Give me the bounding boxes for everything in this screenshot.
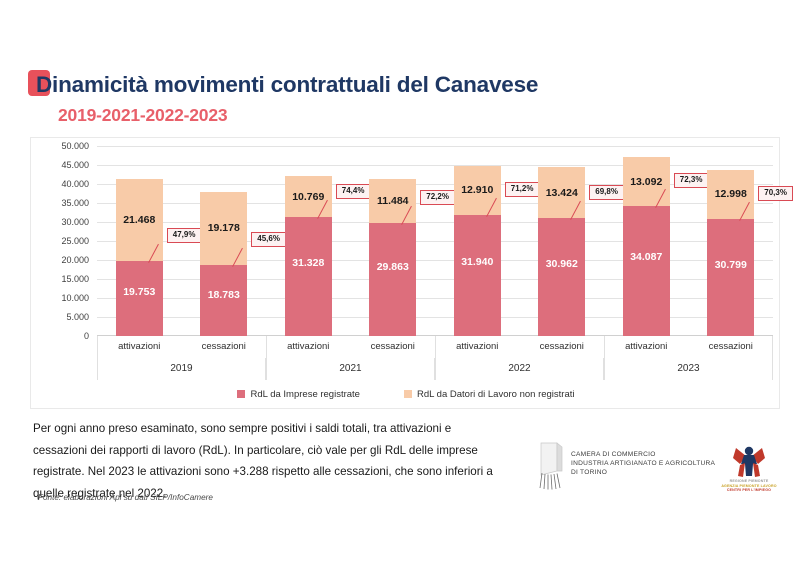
cciaa-line-2: INDUSTRIA ARTIGIANATO E AGRICOLTURA bbox=[571, 459, 715, 468]
bar-segment-non-registrate[interactable]: 13.424 bbox=[538, 167, 585, 218]
regione-piemonte-logo: REGIONE PIEMONTE AGENZIA PIEMONTE LAVORO… bbox=[718, 443, 780, 495]
y-axis-tick-label: 10.000 bbox=[61, 293, 89, 303]
y-axis: 50.00045.00040.00035.00030.00025.00020.0… bbox=[31, 146, 93, 336]
regione-piemonte-text: REGIONE PIEMONTE AGENZIA PIEMONTE LAVORO… bbox=[718, 479, 780, 493]
gridline bbox=[97, 317, 773, 318]
bar-segment-registrate[interactable]: 31.328 bbox=[285, 217, 332, 336]
stacked-bar[interactable]: 13.09234.087 bbox=[623, 157, 670, 336]
percentage-callout: 47,9% bbox=[167, 228, 202, 243]
x-axis-group-label: 2023 bbox=[604, 358, 773, 380]
x-axis-separator bbox=[97, 336, 98, 358]
camera-di-commercio-logo: CAMERA DI COMMERCIO INDUSTRIA ARTIGIANAT… bbox=[535, 441, 710, 493]
x-axis-group-label: 2022 bbox=[435, 358, 604, 380]
bar-segment-registrate[interactable]: 18.783 bbox=[200, 265, 247, 336]
body-text-line: registrate. Nel 2023 le attivazioni sono… bbox=[33, 461, 523, 483]
gridline bbox=[97, 222, 773, 223]
bar-value-label: 12.998 bbox=[707, 188, 754, 200]
y-axis-tick-label: 15.000 bbox=[61, 274, 89, 284]
y-axis-tick-label: 45.000 bbox=[61, 160, 89, 170]
stacked-bar[interactable]: 21.46819.753 bbox=[116, 179, 163, 336]
cciaa-line-3: DI TORINO bbox=[571, 468, 715, 477]
stacked-bar[interactable]: 10.76931.328 bbox=[285, 176, 332, 336]
legend-swatch bbox=[237, 390, 245, 398]
bar-value-label: 19.753 bbox=[116, 286, 163, 298]
x-axis-category-label: cessazioni bbox=[689, 336, 774, 358]
stacked-bar[interactable]: 12.91031.940 bbox=[454, 166, 501, 336]
bar-segment-non-registrate[interactable]: 12.910 bbox=[454, 166, 501, 215]
gridline bbox=[97, 165, 773, 166]
bar-segment-registrate[interactable]: 29.863 bbox=[369, 223, 416, 336]
x-axis-category-label: cessazioni bbox=[520, 336, 605, 358]
bar-segment-registrate[interactable]: 31.940 bbox=[454, 215, 501, 336]
x-axis-category-label: attivazioni bbox=[266, 336, 351, 358]
stacked-bar[interactable]: 11.48429.863 bbox=[369, 179, 416, 336]
body-copy: Per ogni anno preso esaminato, sono semp… bbox=[33, 418, 523, 504]
bar-segment-registrate[interactable]: 19.753 bbox=[116, 261, 163, 336]
x-axis-group-label: 2019 bbox=[97, 358, 266, 380]
percentage-callout: 69,8% bbox=[589, 185, 624, 200]
bar-segment-non-registrate[interactable]: 11.484 bbox=[369, 179, 416, 223]
cciaa-line-1: CAMERA DI COMMERCIO bbox=[571, 450, 715, 459]
bar-value-label: 21.468 bbox=[116, 214, 163, 226]
y-axis-tick-label: 0 bbox=[84, 331, 89, 341]
gridline bbox=[97, 298, 773, 299]
page-title: Dinamicità movimenti contrattuali del Ca… bbox=[36, 72, 538, 98]
title-block: Dinamicità movimenti contrattuali del Ca… bbox=[28, 66, 768, 136]
bar-value-label: 10.769 bbox=[285, 191, 332, 203]
chart-container: 50.00045.00040.00035.00030.00025.00020.0… bbox=[30, 137, 780, 409]
x-axis-category-label: cessazioni bbox=[182, 336, 267, 358]
regione-piemonte-mark bbox=[718, 443, 780, 479]
legend-label: RdL da Datori di Lavoro non registrati bbox=[417, 389, 575, 400]
bar-value-label: 13.092 bbox=[623, 176, 670, 188]
bar-segment-non-registrate[interactable]: 13.092 bbox=[623, 157, 670, 207]
bar-segment-registrate[interactable]: 30.799 bbox=[707, 219, 754, 336]
percentage-callout: 72,3% bbox=[674, 173, 709, 188]
x-axis: attivazionicessazioniattivazionicessazio… bbox=[97, 336, 773, 380]
bar-value-label: 18.783 bbox=[200, 289, 247, 301]
bar-value-label: 34.087 bbox=[623, 251, 670, 263]
x-axis-category-label: cessazioni bbox=[351, 336, 436, 358]
x-axis-category-label: attivazioni bbox=[97, 336, 182, 358]
stacked-bar[interactable]: 13.42430.962 bbox=[538, 167, 585, 336]
bar-value-label: 31.940 bbox=[454, 256, 501, 268]
bar-segment-registrate[interactable]: 30.962 bbox=[538, 218, 585, 336]
regione-line-3: CENTRI PER L'IMPIEGO bbox=[718, 488, 780, 493]
gridline bbox=[97, 184, 773, 185]
body-text-line: cessazioni dei rapporti di lavoro (RdL).… bbox=[33, 440, 523, 462]
y-axis-tick-label: 5.000 bbox=[66, 312, 89, 322]
percentage-callout: 45,6% bbox=[251, 232, 286, 247]
x-axis-category-row: attivazionicessazioniattivazionicessazio… bbox=[97, 336, 773, 358]
x-axis-separator bbox=[604, 336, 605, 358]
bar-value-label: 29.863 bbox=[369, 261, 416, 273]
percentage-callout: 72,2% bbox=[420, 190, 455, 205]
bar-segment-non-registrate[interactable]: 12.998 bbox=[707, 170, 754, 219]
bar-value-label: 13.424 bbox=[538, 187, 585, 199]
stacked-bar[interactable]: 19.17818.783 bbox=[200, 192, 247, 336]
x-axis-group-row: 2019202120222023 bbox=[97, 358, 773, 380]
source-note: Fonte: elaborazioni Apl su dati SILP/Inf… bbox=[38, 493, 213, 502]
chart-legend: RdL da Imprese registrateRdL da Datori d… bbox=[31, 384, 781, 404]
camera-di-commercio-mark bbox=[535, 441, 569, 491]
bar-value-label: 30.962 bbox=[538, 258, 585, 270]
gridline bbox=[97, 279, 773, 280]
x-axis-category-label: attivazioni bbox=[604, 336, 689, 358]
y-axis-tick-label: 25.000 bbox=[61, 236, 89, 246]
page-subtitle: 2019-2021-2022-2023 bbox=[58, 105, 227, 126]
bar-value-label: 12.910 bbox=[454, 184, 501, 196]
legend-item[interactable]: RdL da Imprese registrate bbox=[237, 389, 359, 400]
camera-di-commercio-text: CAMERA DI COMMERCIO INDUSTRIA ARTIGIANAT… bbox=[571, 450, 715, 477]
stacked-bar[interactable]: 12.99830.799 bbox=[707, 170, 754, 336]
percentage-callout: 74,4% bbox=[336, 184, 371, 199]
x-axis-separator bbox=[266, 336, 267, 358]
bar-value-label: 30.799 bbox=[707, 259, 754, 271]
y-axis-tick-label: 50.000 bbox=[61, 141, 89, 151]
y-axis-tick-label: 30.000 bbox=[61, 217, 89, 227]
y-axis-tick-label: 35.000 bbox=[61, 198, 89, 208]
body-text-line: Per ogni anno preso esaminato, sono semp… bbox=[33, 418, 523, 440]
legend-item[interactable]: RdL da Datori di Lavoro non registrati bbox=[404, 389, 575, 400]
x-axis-category-label: attivazioni bbox=[435, 336, 520, 358]
x-axis-separator bbox=[435, 336, 436, 358]
bar-value-label: 31.328 bbox=[285, 257, 332, 269]
bar-value-label: 19.178 bbox=[200, 222, 247, 234]
legend-label: RdL da Imprese registrate bbox=[250, 389, 359, 400]
bar-segment-registrate[interactable]: 34.087 bbox=[623, 206, 670, 336]
percentage-callout: 71,2% bbox=[505, 182, 540, 197]
x-axis-group-label: 2021 bbox=[266, 358, 435, 380]
plot-area: 21.46819.75347,9%19.17818.78345,6%10.769… bbox=[97, 146, 773, 336]
x-axis-separator bbox=[772, 336, 773, 358]
bar-value-label: 11.484 bbox=[369, 195, 416, 207]
legend-swatch bbox=[404, 390, 412, 398]
bar-segment-non-registrate[interactable]: 10.769 bbox=[285, 176, 332, 217]
percentage-callout: 70,3% bbox=[758, 186, 793, 201]
gridline bbox=[97, 260, 773, 261]
y-axis-tick-label: 20.000 bbox=[61, 255, 89, 265]
gridline bbox=[97, 146, 773, 147]
y-axis-tick-label: 40.000 bbox=[61, 179, 89, 189]
